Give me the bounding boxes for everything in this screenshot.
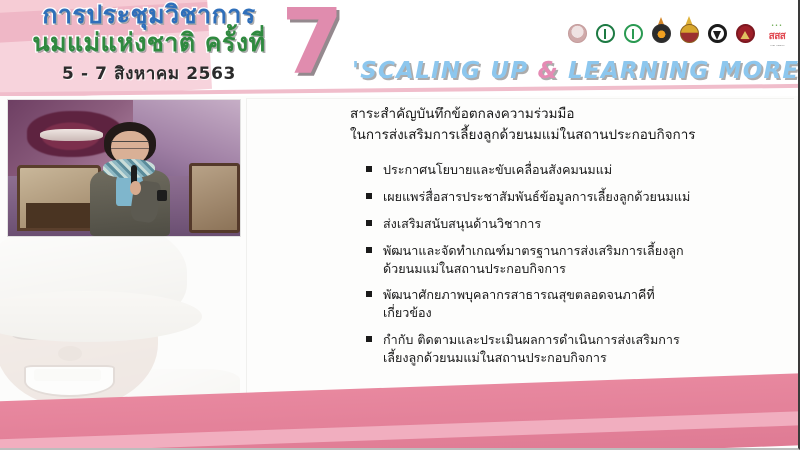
speaker-glasses bbox=[111, 141, 149, 149]
speaker-hand bbox=[130, 181, 141, 195]
list-item: ส่งเสริมสนับสนุนด้านวิชาการ bbox=[366, 215, 772, 233]
list-item-line1: พัฒนาและจัดทำเกณฑ์มาตรฐานการส่งเสริมการเ… bbox=[383, 242, 772, 260]
subtitle-part-right: LEARNING MORE' bbox=[559, 58, 800, 84]
list-item-line2: เกี่ยวข้อง bbox=[383, 304, 772, 322]
watermark-child-teeth bbox=[34, 369, 101, 381]
sponsor-logo-row: ••• สสส Thai Health bbox=[566, 24, 792, 54]
red-crest-logo bbox=[734, 24, 756, 54]
thaihealth-sub-label: Thai Health bbox=[765, 45, 789, 48]
content-heading: สาระสำคัญบันทึกข้อตกลงความร่วมมือ ในการส… bbox=[350, 104, 772, 145]
list-item: กำกับ ติดตามและประเมินผลการดำเนินการส่งเ… bbox=[366, 331, 772, 367]
presentation-slide: การประชุมวิชาการ นมแม่แห่งชาติ ครั้งที่ … bbox=[0, 0, 800, 450]
list-item: พัฒนาศักยภาพบุคลากรสาธารณสุขตลอดจนภาคีที… bbox=[366, 286, 772, 322]
speaker-figure bbox=[85, 122, 175, 236]
list-item-line1: ประกาศนโยบายและขับเคลื่อนสังคมนมแม่ bbox=[383, 161, 772, 179]
subtitle-ampersand: & bbox=[538, 58, 559, 84]
conference-subtitle: 'SCALING UP & LEARNING MORE' bbox=[352, 58, 800, 84]
thaihealth-sss-label: สสส bbox=[769, 29, 786, 44]
edition-number: 7 bbox=[281, 0, 344, 88]
list-item: เผยแพร่สื่อสารประชาสัมพันธ์ข้อมูลการเลี้… bbox=[366, 188, 772, 206]
subtitle-part-left: 'SCALING UP bbox=[352, 58, 538, 84]
ministry-emblem-logo bbox=[650, 24, 672, 54]
conference-title-line1: การประชุมวิชาการ bbox=[14, 2, 284, 27]
speaker-video[interactable] bbox=[8, 100, 240, 236]
green-medical-logo bbox=[594, 24, 616, 54]
green-health-logo bbox=[622, 24, 644, 54]
list-item-line1: ส่งเสริมสนับสนุนด้านวิชาการ bbox=[383, 215, 772, 233]
conference-date: 5 - 7 สิงหาคม 2563 bbox=[14, 60, 284, 87]
royal-seal-logo bbox=[566, 24, 588, 54]
garuda-black-logo bbox=[706, 24, 728, 54]
speaker-scarf bbox=[103, 159, 155, 177]
list-item-line1: กำกับ ติดตามและประเมินผลการดำเนินการส่งเ… bbox=[383, 331, 772, 349]
conference-title-line2: นมแม่แห่งชาติ ครั้งที่ bbox=[14, 30, 284, 55]
list-item-line2: เลี้ยงลูกด้วยนมแม่ในสถานประกอบกิจการ bbox=[383, 349, 772, 367]
content-bullet-list: ประกาศนโยบายและขับเคลื่อนสังคมนมแม่ เผยแ… bbox=[366, 161, 772, 367]
thaihealth-sss-logo: ••• สสส Thai Health bbox=[762, 24, 792, 54]
list-item: ประกาศนโยบายและขับเคลื่อนสังคมนมแม่ bbox=[366, 161, 772, 179]
slide-content: สาระสำคัญบันทึกข้อตกลงความร่วมมือ ในการส… bbox=[252, 104, 772, 376]
royal-crest-logo bbox=[678, 24, 700, 54]
list-item-line2: ด้วยนมแม่ในสถานประกอบกิจการ bbox=[383, 260, 772, 278]
list-item-line1: เผยแพร่สื่อสารประชาสัมพันธ์ข้อมูลการเลี้… bbox=[383, 188, 772, 206]
list-item: พัฒนาและจัดทำเกณฑ์มาตรฐานการส่งเสริมการเ… bbox=[366, 242, 772, 278]
stage-chair-right bbox=[189, 163, 240, 234]
watermark-child-nose bbox=[58, 346, 82, 362]
presenter-clicker bbox=[157, 190, 167, 200]
conference-title-block: การประชุมวิชาการ นมแม่แห่งชาติ ครั้งที่ … bbox=[14, 2, 284, 87]
list-item-line1: พัฒนาศักยภาพบุคลากรสาธารณสุขตลอดจนภาคีที… bbox=[383, 286, 772, 304]
